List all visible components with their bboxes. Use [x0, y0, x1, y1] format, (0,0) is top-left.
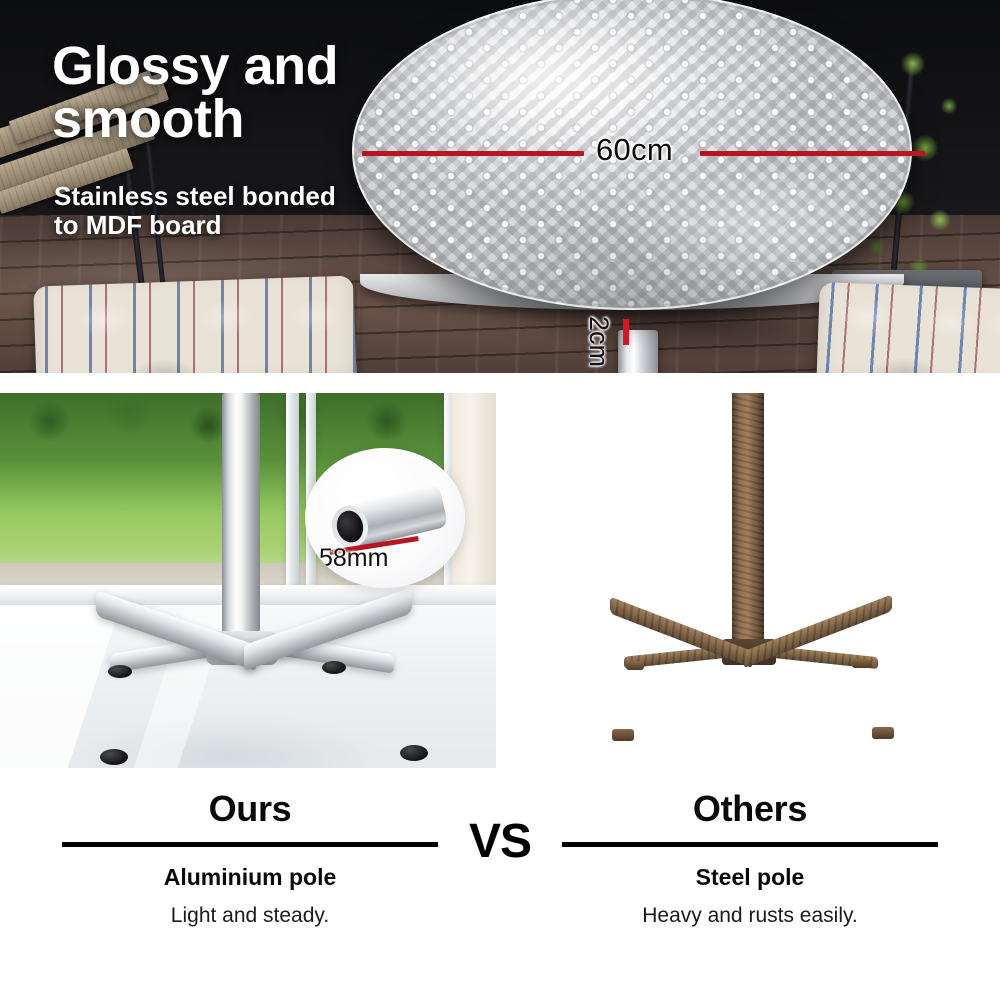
- product-infographic: 60cm 2cm Glossy and smooth Stainless ste…: [0, 0, 1000, 1000]
- comparison-divider-rule: [562, 842, 938, 847]
- steel-base-photo: [500, 393, 1000, 768]
- rusty-steel-pole: [732, 393, 764, 651]
- base-foot: [100, 749, 128, 765]
- pole-diameter-label: 58mm: [319, 544, 388, 573]
- base-foot: [400, 745, 428, 761]
- aluminium-pole: [222, 393, 260, 648]
- comparison-subtitle: Steel pole: [562, 864, 938, 891]
- hero-headline: Glossy and smooth: [52, 40, 392, 146]
- base-foot: [108, 665, 132, 678]
- rusty-leg-tip: [852, 659, 870, 668]
- headline-line-2: smooth: [52, 93, 392, 146]
- hero-photo-panel: 60cm 2cm Glossy and smooth Stainless ste…: [0, 0, 1000, 373]
- thickness-label: 2cm: [583, 316, 614, 367]
- striped-cushion: [816, 282, 1000, 373]
- base-foot: [322, 661, 346, 674]
- striped-cushion: [33, 275, 357, 373]
- rusty-leg-tip: [872, 727, 894, 739]
- subhead-line-2: to MDF board: [54, 211, 384, 240]
- comparison-description: Light and steady.: [62, 904, 438, 928]
- hero-subheadline: Stainless steel bonded to MDF board: [54, 182, 384, 240]
- diameter-label: 60cm: [596, 132, 673, 168]
- window-frame-mullion: [286, 393, 299, 593]
- comparison-description: Heavy and rusts easily.: [562, 904, 938, 928]
- comparison-column-others: Others Steel pole Heavy and rusts easily…: [562, 790, 938, 928]
- aluminium-base-photo: [0, 393, 496, 768]
- diameter-line-right: [700, 151, 925, 156]
- pole-diameter-callout: 58mm: [305, 448, 465, 588]
- subhead-line-1: Stainless steel bonded: [54, 182, 384, 211]
- headline-line-1: Glossy and: [52, 40, 392, 93]
- rusty-leg-tip: [612, 729, 634, 741]
- comparison-title: Others: [562, 790, 938, 828]
- thickness-tick: [623, 319, 629, 345]
- comparison-section: Ours Aluminium pole Light and steady. VS…: [0, 790, 1000, 1000]
- diameter-line-left: [362, 151, 584, 156]
- rusty-leg-tip: [626, 661, 644, 670]
